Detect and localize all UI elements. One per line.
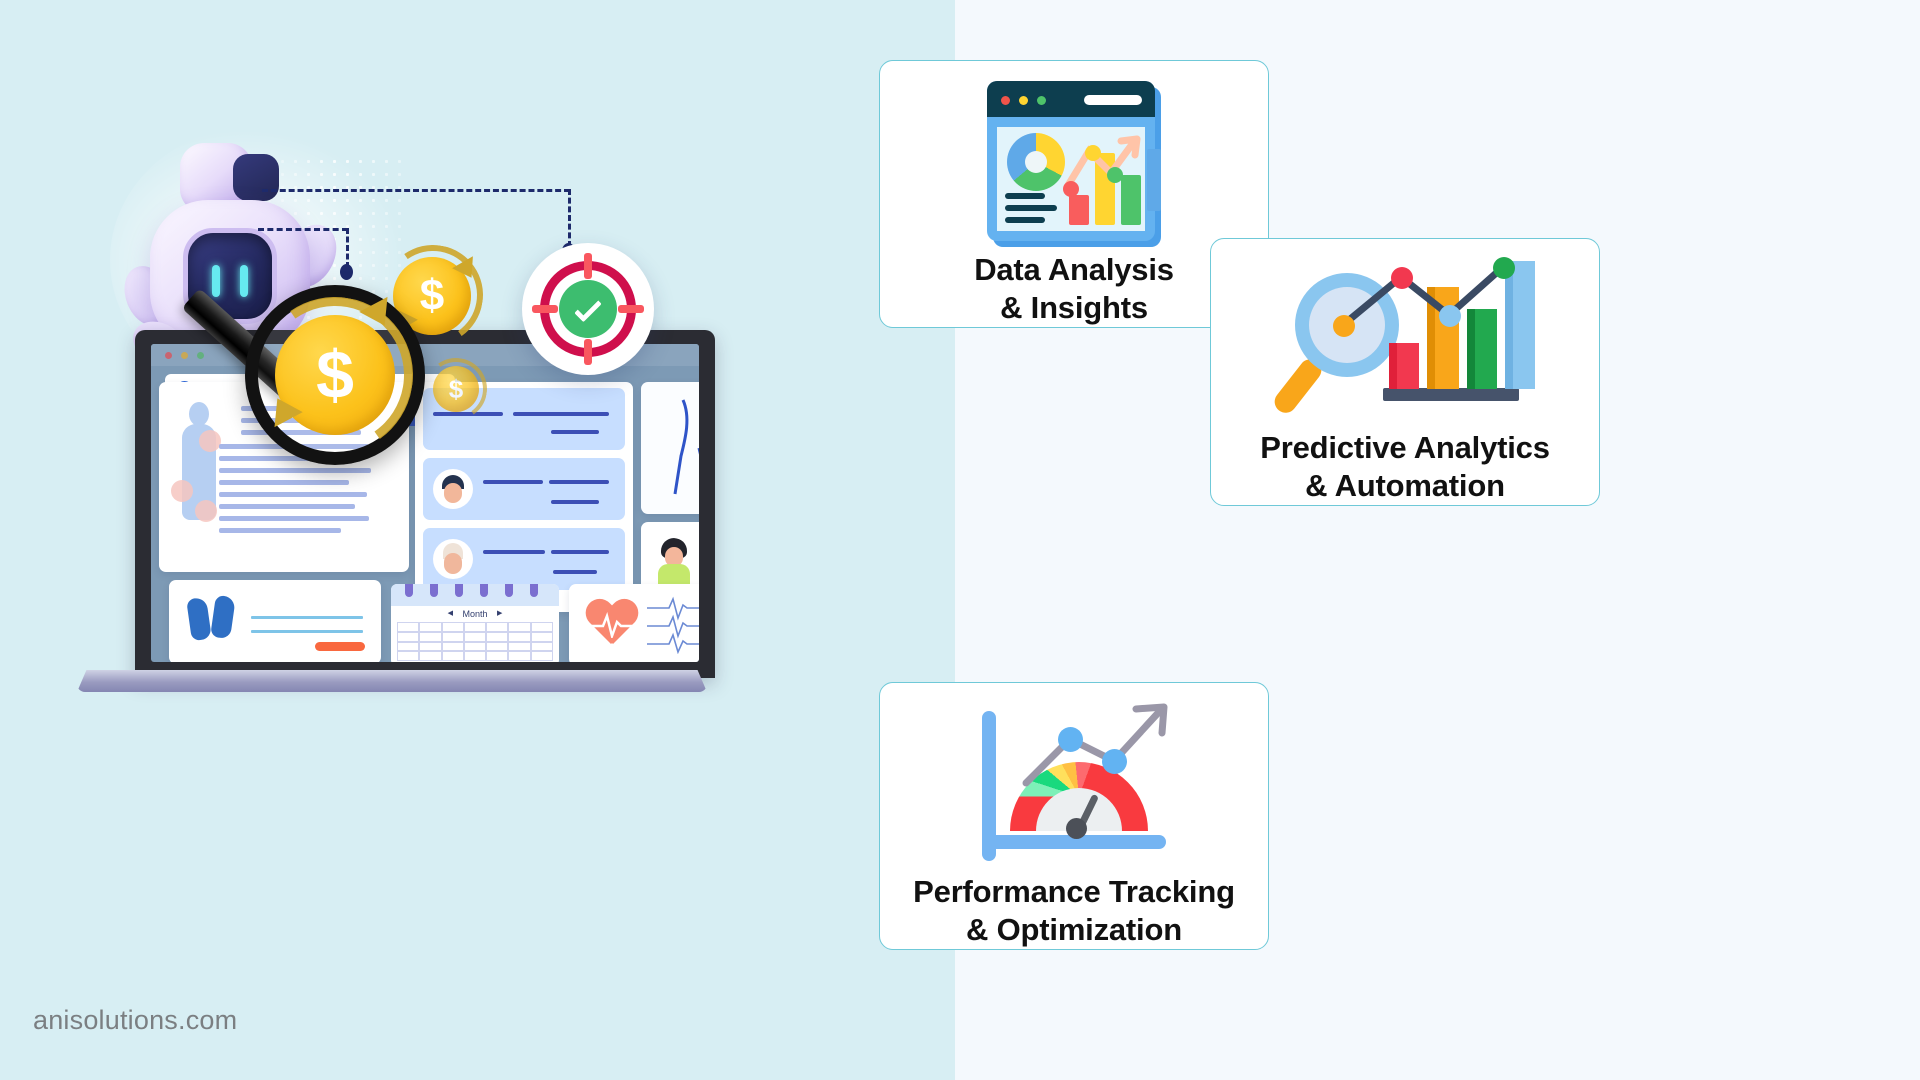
data-point xyxy=(1058,727,1083,752)
patient-figure-head xyxy=(189,402,209,426)
connector-line-top xyxy=(262,189,570,192)
calendar-widget[interactable]: ◀ Month ▶ xyxy=(391,584,559,662)
connector-node-left xyxy=(340,264,353,280)
record-line xyxy=(219,468,371,473)
record-line xyxy=(219,528,341,533)
robot-eye-left xyxy=(212,265,220,297)
calendar-grid[interactable] xyxy=(397,622,553,661)
performance-trendline xyxy=(1018,699,1178,791)
list-row[interactable] xyxy=(423,458,625,520)
feature-title-line2: & Automation xyxy=(1260,467,1550,505)
feature-title-line1: Predictive Analytics xyxy=(1260,429,1550,467)
lungs-card[interactable] xyxy=(169,580,381,662)
lung-right xyxy=(210,595,236,639)
feature-title-data-analysis: Data Analysis & Insights xyxy=(974,251,1174,327)
anatomy-card[interactable] xyxy=(641,382,699,514)
avatar xyxy=(433,539,473,579)
target-center xyxy=(559,280,617,338)
ecg-traces xyxy=(647,596,699,654)
feature-title-line1: Performance Tracking xyxy=(913,873,1235,911)
laptop-base xyxy=(77,670,707,692)
window-close-dot xyxy=(165,352,172,359)
calendar-month-label: ◀ Month ▶ xyxy=(391,606,559,622)
list-row[interactable] xyxy=(423,528,625,590)
data-point xyxy=(1102,749,1127,774)
calendar-ring xyxy=(480,584,488,597)
magnifier-barchart-icon xyxy=(1291,257,1519,407)
feature-card-performance-tracking[interactable]: Performance Tracking & Optimization xyxy=(879,682,1269,950)
record-line xyxy=(219,504,355,509)
feature-title-predictive: Predictive Analytics & Automation xyxy=(1260,429,1550,505)
symptom-marker-2 xyxy=(171,480,193,502)
hero-illustration-panel: ◀ Month ▶ xyxy=(0,0,955,1080)
avatar xyxy=(433,469,473,509)
symptom-marker-1 xyxy=(199,430,221,452)
target-tick-left xyxy=(532,305,558,313)
coin-rotating-tiny: $ xyxy=(425,358,487,420)
record-line xyxy=(219,492,367,497)
data-point xyxy=(1493,257,1515,279)
gauge-trendline-icon xyxy=(974,699,1174,855)
target-tick-right xyxy=(618,305,644,313)
data-point xyxy=(1333,315,1355,337)
lung-left xyxy=(186,597,212,641)
target-success-badge xyxy=(522,243,654,375)
heartrate-card[interactable] xyxy=(569,584,699,662)
infographic-stage: ◀ Month ▶ xyxy=(0,0,1920,1080)
record-line xyxy=(219,516,369,521)
window-maximize-dot xyxy=(197,352,204,359)
calendar-ring xyxy=(505,584,513,597)
torso-diagram xyxy=(641,382,699,514)
connector-line-top-down xyxy=(568,189,571,247)
calendar-ring xyxy=(530,584,538,597)
record-line xyxy=(219,480,349,485)
target-tick-top xyxy=(584,253,592,279)
coin-symbol: $ xyxy=(449,374,463,405)
watermark-text: anisolutions.com xyxy=(33,1005,237,1036)
calendar-ring xyxy=(430,584,438,597)
feature-title-line2: & Insights xyxy=(974,289,1174,327)
heart-ecg-line xyxy=(589,612,641,638)
calendar-ring xyxy=(405,584,413,597)
robot-antenna-screen xyxy=(233,154,279,201)
feature-title-line2: & Optimization xyxy=(913,911,1235,949)
feature-title-performance: Performance Tracking & Optimization xyxy=(913,873,1235,949)
donut-chart xyxy=(1007,133,1065,191)
connector-line-bottom xyxy=(258,228,348,231)
connector-line-bottom-down xyxy=(346,228,349,268)
calendar-ring xyxy=(455,584,463,597)
feature-title-line1: Data Analysis xyxy=(974,251,1174,289)
check-icon xyxy=(574,295,602,323)
calendar-month-text: Month xyxy=(462,609,487,619)
coin-tiny: $ xyxy=(433,366,479,412)
magnifier-glass: $ xyxy=(245,285,425,465)
data-point xyxy=(1439,305,1461,327)
feature-card-predictive-analytics[interactable]: Predictive Analytics & Automation xyxy=(1210,238,1600,506)
calendar-prev-arrow[interactable]: ◀ xyxy=(448,610,453,617)
features-panel: Data Analysis & Insights xyxy=(955,0,1920,1080)
data-point xyxy=(1391,267,1413,289)
coin-symbol: $ xyxy=(316,336,354,414)
target-tick-bottom xyxy=(584,339,592,365)
window-minimize-dot xyxy=(181,352,188,359)
status-pill xyxy=(315,642,365,651)
calendar-next-arrow[interactable]: ▶ xyxy=(497,610,502,617)
symptom-marker-3 xyxy=(195,500,217,522)
analytics-browser-icon xyxy=(987,81,1161,231)
